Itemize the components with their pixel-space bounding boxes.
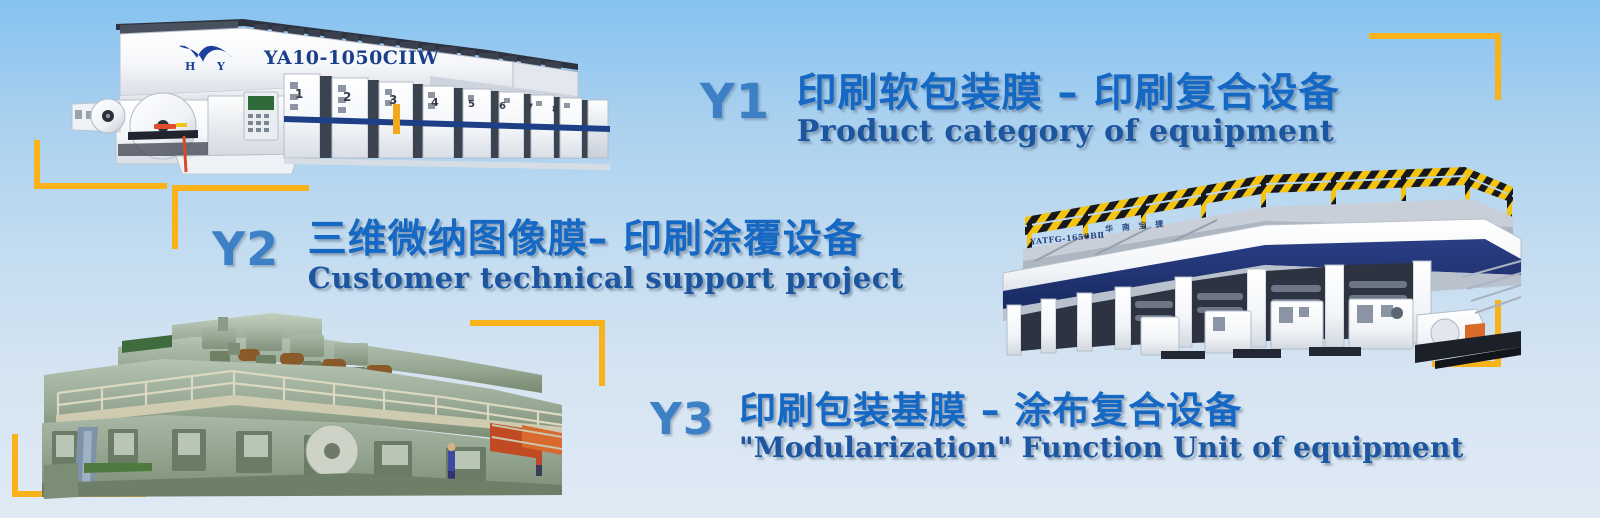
print-unit-number-2: 2 [343, 90, 351, 104]
text-group-y3: Y3 印刷包装基膜 – 涂布复合设备 "Modularization" Func… [650, 380, 1464, 464]
cn-headline-y3: 印刷包装基膜 – 涂布复合设备 [739, 380, 1464, 434]
bracket-top-left-vertical [34, 140, 40, 185]
machine-model-label-1: YA10-1050CIIW [264, 47, 439, 69]
print-unit-number-4: 4 [431, 96, 439, 109]
text-lines-y1: 印刷软包装膜 – 印刷复合设备 Product category of equi… [797, 60, 1340, 149]
text-lines-y3: 印刷包装基膜 – 涂布复合设备 "Modularization" Functio… [739, 380, 1464, 464]
print-unit-number-3: 3 [389, 93, 397, 107]
bracket-mid-left-horizontal [172, 185, 309, 191]
print-unit-number-5: 5 [468, 99, 475, 110]
bracket-top-right-horizontal [1369, 33, 1501, 39]
en-subline-y1: Product category of equipment [797, 114, 1340, 149]
print-unit-number-6: 6 [499, 101, 506, 112]
promo-banner: H Y 1 2 3 4 5 6 7 8 YA10-1050CIIW [0, 0, 1600, 518]
text-group-y1: Y1 印刷软包装膜 – 印刷复合设备 Product category of e… [700, 60, 1339, 149]
svg-text:H: H [185, 60, 195, 72]
en-subline-y2: Customer technical support project [308, 261, 904, 295]
svg-text:Y: Y [216, 60, 225, 72]
bracket-top-left-horizontal [34, 183, 167, 189]
bracket-top-right-vertical [1495, 33, 1501, 100]
machine-image-coating-laminating-machine [965, 165, 1525, 370]
machine-image-rotogravure-printing-press: H Y [58, 4, 610, 174]
print-unit-number-8: 8 [552, 105, 558, 115]
hy-logo-icon: H Y [173, 42, 241, 72]
print-unit-number-7: 7 [527, 103, 533, 113]
en-subline-y3: "Modularization" Function Unit of equipm… [739, 431, 1464, 464]
text-group-y2: Y2 三维微纳图像膜– 印刷涂覆设备 Customer technical su… [212, 208, 904, 295]
cn-headline-y1: 印刷软包装膜 – 印刷复合设备 [797, 60, 1340, 118]
code-label-y2: Y2 [212, 222, 279, 276]
machine-image-paper-base-film-coater [22, 305, 578, 500]
cn-headline-y2: 三维微纳图像膜– 印刷涂覆设备 [308, 208, 904, 264]
bracket-mid-center-vertical [599, 320, 605, 386]
bracket-bottom-left-vertical [12, 434, 18, 497]
text-lines-y2: 三维微纳图像膜– 印刷涂覆设备 Customer technical suppo… [308, 208, 904, 295]
print-unit-number-1: 1 [295, 87, 303, 101]
code-label-y3: Y3 [650, 394, 714, 445]
bracket-mid-left-vertical [172, 185, 178, 249]
code-label-y1: Y1 [700, 74, 770, 130]
